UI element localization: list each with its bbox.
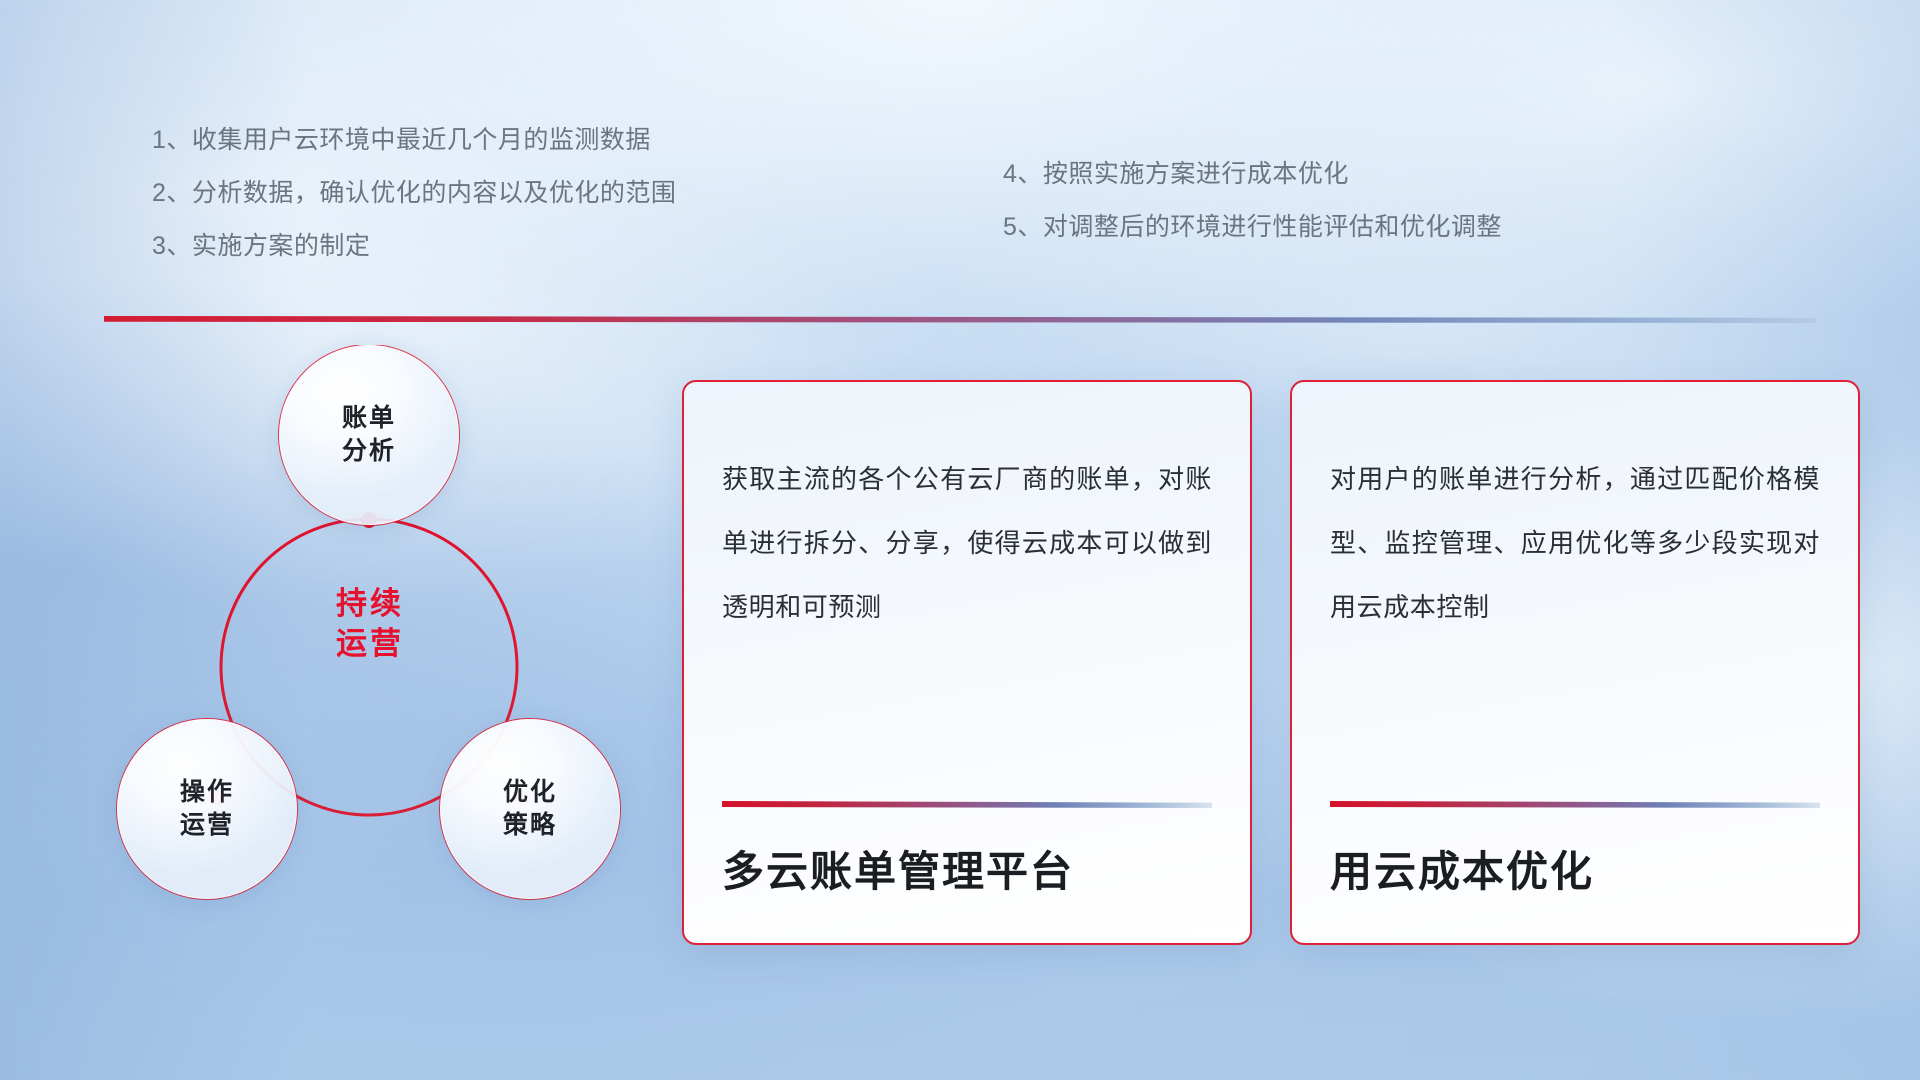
card-multicloud-bill-platform[interactable]: 获取主流的各个公有云厂商的账单，对账单进行拆分、分享，使得云成本可以做到透明和可… (682, 380, 1252, 945)
bubble-label-line1: 操作 (180, 776, 234, 809)
venn-bubble-operations[interactable]: 操作 运营 (117, 719, 297, 899)
steps-list-left: 1、收集用户云环境中最近几个月的监测数据 2、分析数据，确认优化的内容以及优化的… (152, 128, 676, 287)
venn-center-line1: 持续 (336, 584, 404, 624)
step-item-4: 4、按照实施方案进行成本优化 (1003, 162, 1502, 187)
card-body-text: 获取主流的各个公有云厂商的账单，对账单进行拆分、分享，使得云成本可以做到透明和可… (684, 382, 1250, 640)
bubble-label-line2: 分析 (342, 435, 396, 468)
venn-center-line2: 运营 (336, 624, 404, 664)
venn-bubble-optimization-strategy[interactable]: 优化 策略 (440, 719, 620, 899)
step-item-1: 1、收集用户云环境中最近几个月的监测数据 (152, 128, 676, 153)
venn-center-label: 持续 运营 (275, 569, 465, 679)
card-divider-rule (722, 801, 1212, 808)
bubble-label-line1: 账单 (342, 402, 396, 435)
bubble-label-line1: 优化 (503, 776, 557, 809)
card-title: 用云成本优化 (1292, 808, 1858, 943)
venn-bubble-bill-analysis[interactable]: 账单 分析 (279, 345, 459, 525)
continuous-operation-diagram: 账单 分析 操作 运营 优化 策略 持续 运营 (95, 345, 635, 945)
card-divider-rule (1330, 801, 1820, 808)
card-title: 多云账单管理平台 (684, 808, 1250, 943)
step-item-3: 3、实施方案的制定 (152, 234, 676, 259)
card-cloud-cost-optimization[interactable]: 对用户的账单进行分析，通过匹配价格模型、监控管理、应用优化等多少段实现对用云成本… (1290, 380, 1860, 945)
step-item-2: 2、分析数据，确认优化的内容以及优化的范围 (152, 181, 676, 206)
bubble-label-line2: 运营 (180, 809, 234, 842)
step-item-5: 5、对调整后的环境进行性能评估和优化调整 (1003, 215, 1502, 240)
bubble-label-line2: 策略 (503, 809, 557, 842)
steps-list-right: 4、按照实施方案进行成本优化 5、对调整后的环境进行性能评估和优化调整 (1003, 162, 1502, 268)
card-body-text: 对用户的账单进行分析，通过匹配价格模型、监控管理、应用优化等多少段实现对用云成本… (1292, 382, 1858, 640)
